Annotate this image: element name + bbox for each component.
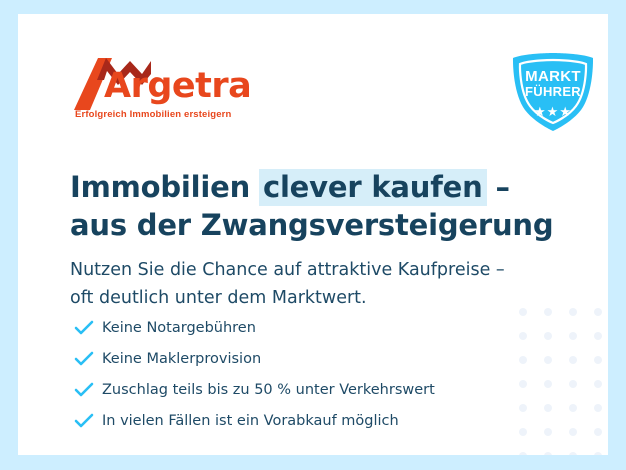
dot: [544, 404, 552, 412]
list-item: Zuschlag teils bis zu 50 % unter Verkehr…: [74, 374, 504, 405]
dot: [544, 380, 552, 388]
dot: [569, 404, 577, 412]
dot: [594, 308, 602, 316]
banner-card: Argetra Erfolgreich Immobilien ersteiger…: [18, 14, 608, 455]
dot: [569, 428, 577, 436]
logo-tagline: Erfolgreich Immobilien ersteigern: [75, 109, 231, 120]
subheadline: Nutzen Sie die Chance auf attraktive Kau…: [70, 256, 505, 313]
dot-grid-decoration: [519, 308, 608, 455]
dot: [519, 380, 527, 388]
dot-row: [519, 452, 608, 455]
dot-row: [519, 308, 608, 316]
dot: [519, 452, 527, 455]
dot: [594, 404, 602, 412]
dot: [519, 404, 527, 412]
headline-text-before: Immobilien: [70, 170, 260, 204]
list-item-label: In vielen Fällen ist ein Vorabkauf mögli…: [102, 413, 399, 429]
dot: [569, 452, 577, 455]
dot: [544, 356, 552, 364]
logo-wordmark: Argetra: [104, 69, 251, 104]
check-icon: [74, 380, 102, 400]
argetra-logo[interactable]: Argetra Erfolgreich Immobilien ersteiger…: [74, 58, 274, 122]
headline-line-2: aus der Zwangsversteigerung: [70, 207, 553, 245]
check-icon: [74, 349, 102, 369]
list-item-label: Zuschlag teils bis zu 50 % unter Verkehr…: [102, 382, 435, 398]
dot: [569, 356, 577, 364]
dot: [544, 308, 552, 316]
dot: [569, 308, 577, 316]
list-item-label: Keine Maklerprovision: [102, 351, 261, 367]
badge-stars: ★★★: [505, 105, 601, 118]
dot-row: [519, 380, 608, 388]
list-item-label: Keine Notargebühren: [102, 320, 256, 336]
dot: [594, 452, 602, 455]
subheadline-line-2: oft deutlich unter dem Marktwert.: [70, 284, 505, 312]
market-leader-badge: MARKT FÜHRER ★★★: [505, 52, 601, 132]
dot-row: [519, 428, 608, 436]
dot: [519, 308, 527, 316]
dot: [594, 356, 602, 364]
dot-row: [519, 404, 608, 412]
check-icon: [74, 411, 102, 431]
dot: [519, 356, 527, 364]
shield-icon: [505, 52, 601, 132]
dot: [544, 452, 552, 455]
dot: [519, 428, 527, 436]
dot-row: [519, 356, 608, 364]
dot: [569, 380, 577, 388]
dot: [594, 380, 602, 388]
subheadline-line-1: Nutzen Sie die Chance auf attraktive Kau…: [70, 256, 505, 284]
headline: Immobilien clever kaufen – aus der Zwang…: [70, 169, 553, 244]
dot: [544, 428, 552, 436]
headline-highlight: clever kaufen: [259, 169, 487, 206]
headline-text-after: –: [486, 170, 510, 204]
dot: [519, 332, 527, 340]
check-icon: [74, 318, 102, 338]
list-item: Keine Maklerprovision: [74, 343, 504, 374]
headline-line-1: Immobilien clever kaufen –: [70, 169, 553, 207]
promo-banner: Argetra Erfolgreich Immobilien ersteiger…: [0, 0, 626, 470]
dot: [569, 332, 577, 340]
list-item: In vielen Fällen ist ein Vorabkauf mögli…: [74, 405, 504, 436]
dot-row: [519, 332, 608, 340]
dot: [544, 332, 552, 340]
list-item: Keine Notargebühren: [74, 312, 504, 343]
benefits-list: Keine Notargebühren Keine Maklerprovisio…: [74, 312, 504, 436]
dot: [594, 332, 602, 340]
dot: [594, 428, 602, 436]
